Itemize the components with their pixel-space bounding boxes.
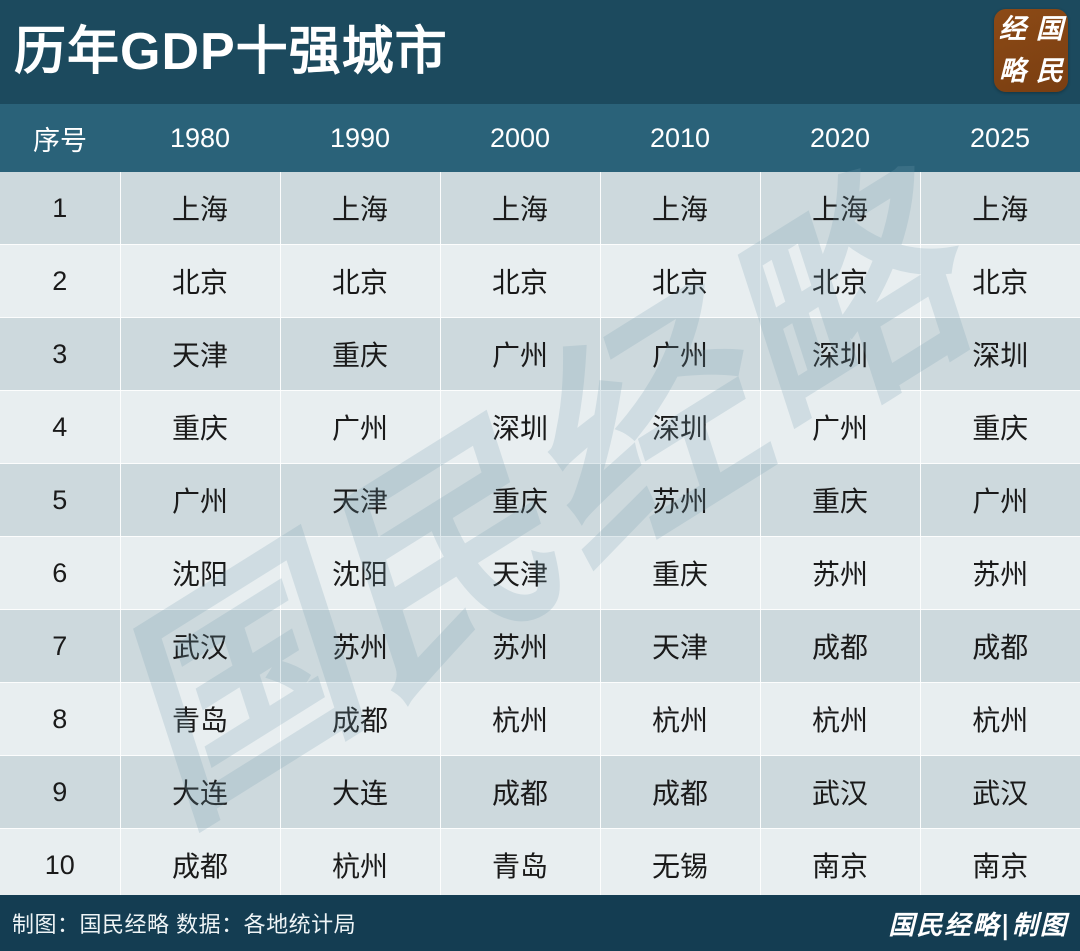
rank-cell: 1: [0, 172, 120, 245]
logo-char-lue: 略: [999, 58, 1026, 85]
column-header-2010: 2010: [600, 104, 760, 172]
footer-credit: 制图：国民经略 数据：各地统计局: [12, 907, 356, 939]
city-cell: 广州: [600, 318, 760, 391]
table-row: 3 天津 重庆 广州 广州 深圳 深圳: [0, 318, 1080, 391]
rank-cell: 4: [0, 391, 120, 464]
city-cell: 苏州: [280, 610, 440, 683]
city-cell: 上海: [600, 172, 760, 245]
city-cell: 青岛: [120, 683, 280, 756]
rank-cell: 8: [0, 683, 120, 756]
table-row: 1 上海 上海 上海 上海 上海 上海: [0, 172, 1080, 245]
city-cell: 广州: [920, 464, 1080, 537]
city-cell: 天津: [600, 610, 760, 683]
gdp-ranking-table: 序号 1980 1990 2000 2010 2020 2025 1 上海 上海…: [0, 104, 1080, 895]
city-cell: 杭州: [280, 829, 440, 896]
city-cell: 武汉: [760, 756, 920, 829]
footer-brand: 国民经略|制图: [889, 905, 1068, 942]
city-cell: 广州: [280, 391, 440, 464]
table-area: 国民经略 序号 1980 1990 2000 2010 2020 2025: [0, 104, 1080, 895]
column-header-1990: 1990: [280, 104, 440, 172]
city-cell: 北京: [600, 245, 760, 318]
city-cell: 成都: [600, 756, 760, 829]
city-cell: 武汉: [120, 610, 280, 683]
city-cell: 深圳: [600, 391, 760, 464]
rank-cell: 6: [0, 537, 120, 610]
title-bar: 历年GDP十强城市 经 国 略 民: [0, 0, 1080, 104]
city-cell: 成都: [920, 610, 1080, 683]
city-cell: 重庆: [120, 391, 280, 464]
city-cell: 苏州: [760, 537, 920, 610]
table-row: 4 重庆 广州 深圳 深圳 广州 重庆: [0, 391, 1080, 464]
brand-logo: 经 国 略 民: [994, 9, 1068, 92]
city-cell: 杭州: [760, 683, 920, 756]
city-cell: 杭州: [440, 683, 600, 756]
city-cell: 苏州: [440, 610, 600, 683]
table-row: 6 沈阳 沈阳 天津 重庆 苏州 苏州: [0, 537, 1080, 610]
city-cell: 大连: [280, 756, 440, 829]
page-title: 历年GDP十强城市: [14, 26, 448, 78]
city-cell: 大连: [120, 756, 280, 829]
city-cell: 成都: [120, 829, 280, 896]
city-cell: 无锡: [600, 829, 760, 896]
logo-char-guo: 国: [1036, 16, 1063, 43]
column-header-2025: 2025: [920, 104, 1080, 172]
city-cell: 北京: [120, 245, 280, 318]
city-cell: 上海: [280, 172, 440, 245]
rank-cell: 5: [0, 464, 120, 537]
city-cell: 苏州: [920, 537, 1080, 610]
city-cell: 成都: [280, 683, 440, 756]
city-cell: 上海: [120, 172, 280, 245]
city-cell: 成都: [440, 756, 600, 829]
city-cell: 北京: [920, 245, 1080, 318]
city-cell: 深圳: [440, 391, 600, 464]
city-cell: 南京: [760, 829, 920, 896]
city-cell: 重庆: [760, 464, 920, 537]
column-header-rank: 序号: [0, 104, 120, 172]
city-cell: 杭州: [600, 683, 760, 756]
logo-char-jing: 经: [999, 16, 1026, 43]
city-cell: 沈阳: [120, 537, 280, 610]
city-cell: 上海: [760, 172, 920, 245]
city-cell: 天津: [440, 537, 600, 610]
city-cell: 南京: [920, 829, 1080, 896]
table-row: 7 武汉 苏州 苏州 天津 成都 成都: [0, 610, 1080, 683]
city-cell: 重庆: [920, 391, 1080, 464]
city-cell: 广州: [760, 391, 920, 464]
logo-char-min: 民: [1036, 58, 1063, 85]
rank-cell: 7: [0, 610, 120, 683]
city-cell: 北京: [760, 245, 920, 318]
city-cell: 上海: [920, 172, 1080, 245]
city-cell: 沈阳: [280, 537, 440, 610]
rank-cell: 9: [0, 756, 120, 829]
city-cell: 重庆: [600, 537, 760, 610]
rank-cell: 3: [0, 318, 120, 391]
city-cell: 广州: [440, 318, 600, 391]
city-cell: 天津: [280, 464, 440, 537]
city-cell: 上海: [440, 172, 600, 245]
city-cell: 成都: [760, 610, 920, 683]
city-cell: 深圳: [760, 318, 920, 391]
rank-cell: 10: [0, 829, 120, 896]
city-cell: 广州: [120, 464, 280, 537]
gdp-top10-infographic: 历年GDP十强城市 经 国 略 民 国民经略 序号 1980 1990 2000: [0, 0, 1080, 951]
city-cell: 重庆: [280, 318, 440, 391]
city-cell: 北京: [280, 245, 440, 318]
city-cell: 青岛: [440, 829, 600, 896]
city-cell: 苏州: [600, 464, 760, 537]
table-header: 序号 1980 1990 2000 2010 2020 2025: [0, 104, 1080, 172]
city-cell: 北京: [440, 245, 600, 318]
city-cell: 天津: [120, 318, 280, 391]
table-body: 1 上海 上海 上海 上海 上海 上海 2 北京 北京 北京 北京 北京 北京: [0, 172, 1080, 895]
city-cell: 重庆: [440, 464, 600, 537]
table-row: 8 青岛 成都 杭州 杭州 杭州 杭州: [0, 683, 1080, 756]
table-row: 9 大连 大连 成都 成都 武汉 武汉: [0, 756, 1080, 829]
column-header-2000: 2000: [440, 104, 600, 172]
table-row: 10 成都 杭州 青岛 无锡 南京 南京: [0, 829, 1080, 896]
footer-bar: 制图：国民经略 数据：各地统计局 国民经略|制图: [0, 895, 1080, 951]
city-cell: 武汉: [920, 756, 1080, 829]
rank-cell: 2: [0, 245, 120, 318]
column-header-2020: 2020: [760, 104, 920, 172]
city-cell: 深圳: [920, 318, 1080, 391]
table-header-row: 序号 1980 1990 2000 2010 2020 2025: [0, 104, 1080, 172]
table-row: 5 广州 天津 重庆 苏州 重庆 广州: [0, 464, 1080, 537]
table-row: 2 北京 北京 北京 北京 北京 北京: [0, 245, 1080, 318]
column-header-1980: 1980: [120, 104, 280, 172]
city-cell: 杭州: [920, 683, 1080, 756]
